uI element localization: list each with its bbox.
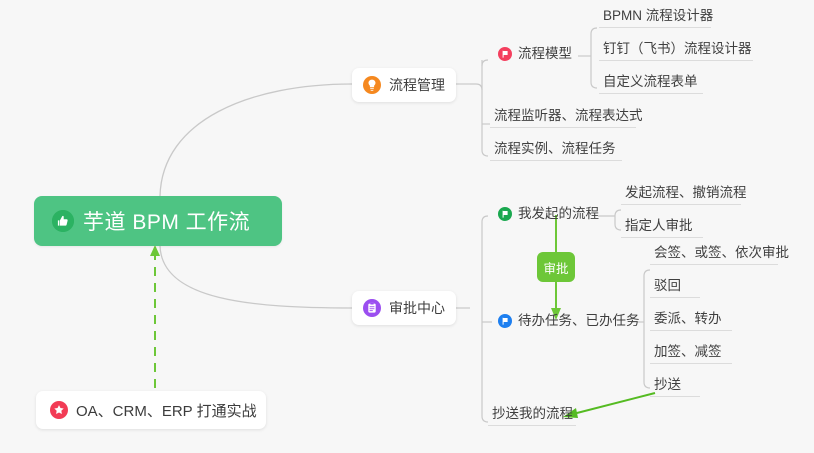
root-label: 芋道 BPM 工作流 bbox=[83, 206, 250, 236]
node-custom-form[interactable]: 自定义流程表单 bbox=[599, 74, 703, 94]
node-listener-expression-label: 流程监听器、流程表达式 bbox=[494, 108, 643, 124]
node-dingtalk-designer-label: 钉钉（飞书）流程设计器 bbox=[603, 41, 752, 57]
node-my-started-process-label: 我发起的流程 bbox=[518, 206, 599, 222]
node-reject[interactable]: 驳回 bbox=[650, 278, 700, 298]
node-cc-to-me[interactable]: 抄送我的流程 bbox=[488, 406, 576, 426]
flag-red-icon bbox=[498, 47, 512, 61]
node-my-started-process[interactable]: 我发起的流程 bbox=[494, 203, 594, 225]
node-add-remove-sign-label: 加签、减签 bbox=[654, 344, 722, 360]
mindmap-canvas: 芋道 BPM 工作流 OA、CRM、ERP 打通实战 流程管理 bbox=[0, 0, 814, 453]
node-custom-form-label: 自定义流程表单 bbox=[603, 74, 698, 90]
clipboard-icon bbox=[363, 299, 381, 317]
node-process-model[interactable]: 流程模型 bbox=[494, 43, 576, 65]
node-carbon-copy-label: 抄送 bbox=[654, 377, 681, 393]
node-bpmn-designer-label: BPMN 流程设计器 bbox=[603, 8, 713, 24]
node-start-cancel-label: 发起流程、撤销流程 bbox=[625, 185, 747, 201]
node-start-cancel[interactable]: 发起流程、撤销流程 bbox=[621, 185, 741, 205]
node-reject-label: 驳回 bbox=[654, 278, 681, 294]
branch-process-management[interactable]: 流程管理 bbox=[352, 68, 456, 102]
node-dingtalk-designer[interactable]: 钉钉（飞书）流程设计器 bbox=[599, 41, 753, 61]
node-add-remove-sign[interactable]: 加签、减签 bbox=[650, 344, 732, 364]
branch-approval-center-label: 审批中心 bbox=[389, 298, 445, 318]
node-delegate-transfer[interactable]: 委派、转办 bbox=[650, 311, 732, 331]
node-bpmn-designer[interactable]: BPMN 流程设计器 bbox=[599, 8, 711, 28]
footnote-pointer-arrow bbox=[150, 245, 160, 388]
node-carbon-copy[interactable]: 抄送 bbox=[650, 377, 700, 397]
thumbs-up-icon bbox=[52, 210, 74, 232]
node-assignee-approve[interactable]: 指定人审批 bbox=[621, 218, 703, 238]
approve-badge-label: 审批 bbox=[543, 258, 568, 277]
flag-blue-icon bbox=[498, 314, 512, 328]
wire-process-mgmt-trunk-top bbox=[482, 60, 488, 66]
node-delegate-transfer-label: 委派、转办 bbox=[654, 311, 722, 327]
wire-root-to-process-management bbox=[160, 84, 352, 196]
node-process-model-label: 流程模型 bbox=[518, 46, 572, 62]
branch-process-management-label: 流程管理 bbox=[389, 75, 445, 95]
root-node[interactable]: 芋道 BPM 工作流 bbox=[34, 196, 282, 246]
wire-approval-center-trunk bbox=[482, 216, 488, 422]
wire-process-mgmt-vert-join bbox=[470, 84, 482, 90]
node-listener-expression[interactable]: 流程监听器、流程表达式 bbox=[490, 108, 636, 128]
node-instance-task-label: 流程实例、流程任务 bbox=[494, 141, 616, 157]
node-instance-task[interactable]: 流程实例、流程任务 bbox=[490, 141, 622, 161]
wire-process-mgmt-trunk bbox=[482, 60, 488, 156]
node-countersign-label: 会签、或签、依次审批 bbox=[654, 245, 789, 261]
branch-approval-center[interactable]: 审批中心 bbox=[352, 291, 456, 325]
carbon-copy-arrow bbox=[563, 393, 655, 418]
node-todo-done-task-label: 待办任务、已办任务 bbox=[518, 313, 640, 329]
flag-green-icon bbox=[498, 207, 512, 221]
approve-badge[interactable]: 审批 bbox=[537, 252, 575, 282]
lightbulb-icon bbox=[363, 76, 381, 94]
node-cc-to-me-label: 抄送我的流程 bbox=[492, 406, 573, 422]
star-icon bbox=[50, 401, 68, 419]
node-assignee-approve-label: 指定人审批 bbox=[625, 218, 693, 234]
footnote-card[interactable]: OA、CRM、ERP 打通实战 bbox=[36, 391, 266, 429]
wire-root-to-approval-center bbox=[160, 246, 352, 308]
node-countersign[interactable]: 会签、或签、依次审批 bbox=[650, 245, 778, 265]
footnote-label: OA、CRM、ERP 打通实战 bbox=[76, 400, 257, 421]
node-todo-done-task[interactable]: 待办任务、已办任务 bbox=[494, 310, 634, 332]
wire-process-model-trunk bbox=[591, 28, 597, 88]
